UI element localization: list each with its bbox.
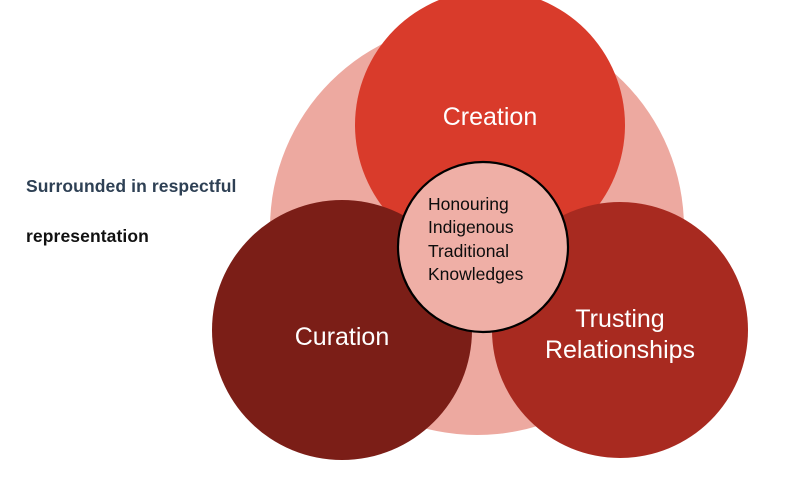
label-trusting-relationships: Trusting Relationships [520, 304, 720, 365]
label-curation: Curation [242, 322, 442, 353]
label-trusting-line-2: Relationships [520, 335, 720, 366]
label-creation: Creation [390, 102, 590, 133]
center-text-line-2: Indigenous [428, 216, 588, 239]
caption-line-2: representation [26, 226, 326, 246]
venn-diagram [0, 0, 798, 493]
label-trusting-line-1: Trusting [520, 304, 720, 335]
center-text-line-1: Honouring [428, 193, 588, 216]
center-text-line-3: Traditional [428, 240, 588, 263]
center-circle-text: Honouring Indigenous Traditional Knowled… [428, 193, 588, 287]
caption-line-1: Surrounded in respectful [26, 176, 326, 196]
center-text-line-4: Knowledges [428, 263, 588, 286]
diagram-canvas: Surrounded in respectful representation … [0, 0, 798, 493]
caption: Surrounded in respectful representation [26, 176, 326, 246]
